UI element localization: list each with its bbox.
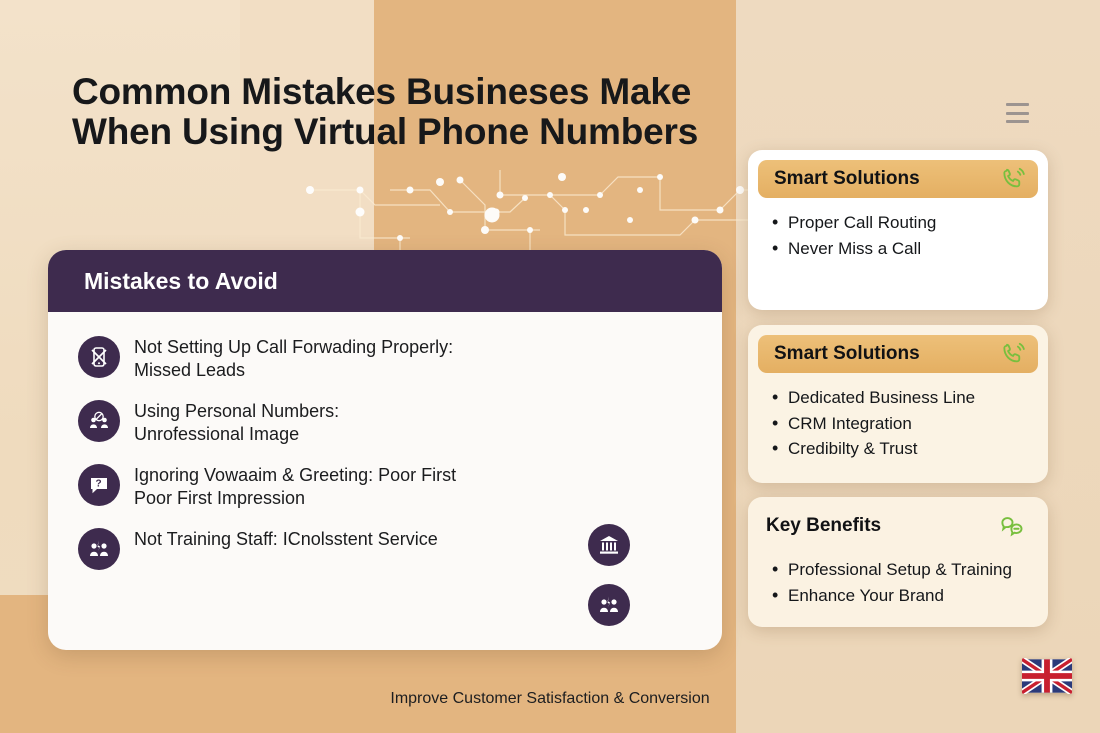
list-item-text: Not Setting Up Call Forwading Properly: … [134,334,453,382]
question-bubble-icon: ? [78,464,120,506]
card-header: Smart Solutions [758,335,1038,373]
list-item: CRM Integration [788,411,1048,437]
personal-contacts-icon [78,400,120,442]
list-item: Professional Setup & Training [788,557,1048,583]
card-list: Dedicated Business Line CRM Integration … [748,373,1048,462]
card-title: Smart Solutions [774,168,920,190]
list-item-line-1: Not Training Staff: ICnolsstent Service [134,529,438,549]
mistakes-panel-body: Not Setting Up Call Forwading Properly: … [48,312,722,570]
mistakes-panel-header: Mistakes to Avoid [48,250,722,312]
mistakes-panel: Mistakes to Avoid Not Setting Up Call Fo… [48,250,722,650]
footer-text: Improve Customer Satisfaction & Conversi… [0,690,1100,708]
card-header: Smart Solutions [758,160,1038,198]
card-smart-solutions-2: Smart Solutions Dedicated Business Line … [748,325,1048,483]
list-item-line-2: Missed Leads [134,360,245,380]
card-smart-solutions-1: Smart Solutions Proper Call Routing Neve… [748,150,1048,310]
list-item-line-1: Not Setting Up Call Forwading Properly: [134,337,453,357]
list-item-text: Ignoring Vowaaim & Greeting: Poor First … [134,462,456,510]
card-title: Smart Solutions [774,343,920,365]
page-title-line-2: When Using Virtual Phone Numbers [72,112,712,152]
hamburger-bar [1006,120,1029,123]
broken-team-icon [588,584,630,626]
bank-building-icon [588,524,630,566]
hamburger-bar [1006,103,1029,106]
slide-canvas: Common Mistakes Busineses Make When Usin… [0,0,1100,733]
svg-text:?: ? [96,479,102,490]
card-list: Proper Call Routing Never Miss a Call [748,198,1048,261]
list-item-line-1: Using Personal Numbers: [134,401,339,421]
card-header: Key Benefits [758,507,1038,545]
list-item[interactable]: Using Personal Numbers: Unrofessional Im… [78,398,692,446]
list-item[interactable]: Not Setting Up Call Forwading Properly: … [78,334,692,382]
list-item-line-1: Ignoring Vowaaim & Greeting: Poor First [134,465,456,485]
list-item: Never Miss a Call [788,236,1048,262]
mistakes-panel-title: Mistakes to Avoid [84,268,278,295]
list-item: Dedicated Business Line [788,385,1048,411]
chat-bubbles-icon [999,513,1026,540]
page-title: Common Mistakes Busineses Make When Usin… [72,72,712,152]
card-list: Professional Setup & Training Enhance Yo… [748,545,1048,608]
list-item: Credibilty & Trust [788,436,1048,462]
list-item: Enhance Your Brand [788,583,1048,609]
staff-training-icon [78,528,120,570]
list-item-line-2: Unrofessional Image [134,424,299,444]
card-key-benefits: Key Benefits Professional Setup & Traini… [748,497,1048,627]
page-title-line-1: Common Mistakes Busineses Make [72,71,691,112]
list-item[interactable]: ? Ignoring Vowaaim & Greeting: Poor Firs… [78,462,692,510]
list-item-text: Not Training Staff: ICnolsstent Service [134,526,438,551]
hamburger-menu-icon[interactable] [1006,103,1029,123]
hamburger-bar [1006,112,1029,115]
phone-ringing-icon [1000,341,1026,367]
uk-flag-icon[interactable] [1022,658,1072,694]
list-item-line-2: Poor First Impression [134,488,305,508]
list-item: Proper Call Routing [788,210,1048,236]
card-title: Key Benefits [766,515,881,537]
phone-call-blocked-icon [78,336,120,378]
list-item-text: Using Personal Numbers: Unrofessional Im… [134,398,339,446]
phone-ringing-icon [1000,166,1026,192]
